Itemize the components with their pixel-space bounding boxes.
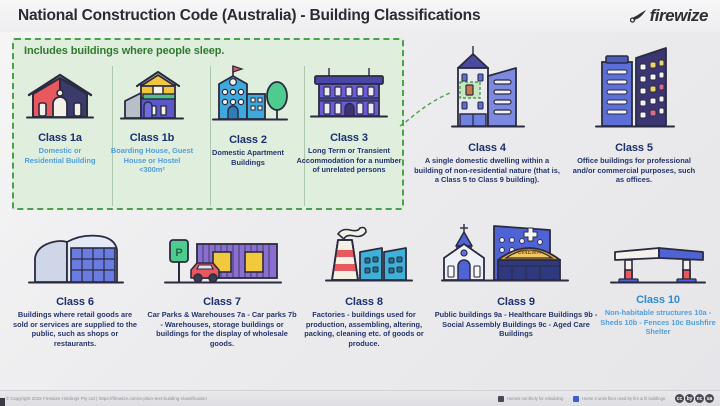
class-description: Public buildings 9a - Healthcare Buildin… [432, 310, 600, 339]
class-description: A single domestic dwelling within a buil… [412, 156, 562, 185]
class-description: Boarding House, Guest House or Hostel <3… [110, 146, 194, 175]
class-card-5: Class 5 Office buildings for professiona… [568, 42, 700, 185]
svg-text:P: P [175, 247, 182, 259]
class-description: Office buildings for professional and/or… [568, 156, 700, 185]
cc-icon-sa: sa [705, 394, 714, 403]
cc-icon-cc: cc [675, 394, 684, 403]
class-card-1a: Class 1a Domestic or Residential Buildin… [18, 72, 102, 165]
sleep-group-label: Includes buildings where people sleep. [24, 45, 224, 57]
page-title: National Construction Code (Australia) -… [18, 7, 480, 25]
class-description: Long Term or Transient Accommodation for… [296, 146, 402, 175]
legend-swatch-2 [573, 396, 579, 402]
factory-icon [298, 226, 430, 293]
footer-right-group: Homes not likely for rebuilding Home 2 u… [498, 394, 714, 403]
class-description: Domestic or Residential Building [18, 146, 102, 165]
hotel-icon [296, 62, 402, 129]
class-card-2: Class 2 Domestic Apartment Buildings [204, 60, 292, 167]
cc-icon-by: by [685, 394, 694, 403]
class-card-10: Class 10 Non-habitable structures 10a - … [600, 228, 716, 337]
infographic-poster: National Construction Code (Australia) -… [0, 0, 720, 406]
class-description: Factories - buildings used for productio… [298, 310, 430, 348]
cc-icon-nc: nc [695, 394, 704, 403]
class-card-4: Class 4 A single domestic dwelling withi… [412, 42, 562, 185]
mixed-use-building-icon [412, 42, 562, 139]
carport-shelter-icon [600, 228, 716, 291]
class-description: Non-habitable structures 10a - Sheds 10b… [600, 308, 716, 337]
legend-item-1: Homes not likely for rebuilding [498, 396, 563, 402]
svg-text:CINEMA: CINEMA [517, 250, 541, 256]
legend-label-2: Home 2 units floor used by fire & fit bu… [582, 396, 665, 401]
class-title: Class 4 [412, 142, 562, 154]
class-description: Buildings where retail goods are sold or… [10, 310, 140, 348]
carpark-warehouse-icon: P [146, 228, 298, 293]
class-title: Class 10 [600, 294, 716, 306]
logo-wordmark: firewize [650, 6, 708, 26]
copyright-text: © Copyright 2022 Firewize Holdings Pty L… [6, 396, 207, 401]
legend-label-1: Homes not likely for rebuilding [507, 396, 563, 401]
scroll-indicator [0, 398, 5, 406]
boarding-house-icon [110, 68, 194, 129]
class-card-1b: Class 1b Boarding House, Guest House or … [110, 68, 194, 175]
class-title: Class 1b [110, 132, 194, 144]
class-title: Class 9 [432, 296, 600, 308]
creative-commons-badge[interactable]: cc by nc sa [675, 394, 714, 403]
class-card-9: CINEMA Class 9 Public buildings 9a - Hea… [432, 220, 600, 339]
class-description: Car Parks & Warehouses 7a - Car parks 7b… [146, 310, 298, 348]
apartment-with-tree-icon [204, 60, 292, 131]
class-card-7: P Class 7 Car Parks & Wa [146, 228, 298, 348]
poster-header: National Construction Code (Australia) -… [0, 0, 720, 32]
class-title: Class 5 [568, 142, 700, 154]
class-title: Class 6 [10, 296, 140, 308]
class-title: Class 3 [296, 132, 402, 144]
class-card-3: Class 3 Long Term or Transient Accommoda… [296, 62, 402, 175]
legend-swatch-1 [498, 396, 504, 402]
public-buildings-icon: CINEMA [432, 220, 600, 293]
class-card-6: Class 6 Buildings where retail goods are… [10, 228, 140, 348]
class-description: Domestic Apartment Buildings [204, 148, 292, 167]
house-icon [18, 72, 102, 129]
firewize-logo: firewize [630, 6, 708, 26]
flame-icon [630, 9, 648, 23]
class-title: Class 2 [204, 134, 292, 146]
poster-footer: © Copyright 2022 Firewize Holdings Pty L… [0, 390, 720, 406]
class-card-8: Class 8 Factories - buildings used for p… [298, 226, 430, 348]
class-title: Class 7 [146, 296, 298, 308]
class-title: Class 8 [298, 296, 430, 308]
retail-mall-icon [10, 228, 140, 293]
legend-item-2: Home 2 units floor used by fire & fit bu… [573, 396, 665, 402]
class-title: Class 1a [18, 132, 102, 144]
office-towers-icon [568, 42, 700, 139]
